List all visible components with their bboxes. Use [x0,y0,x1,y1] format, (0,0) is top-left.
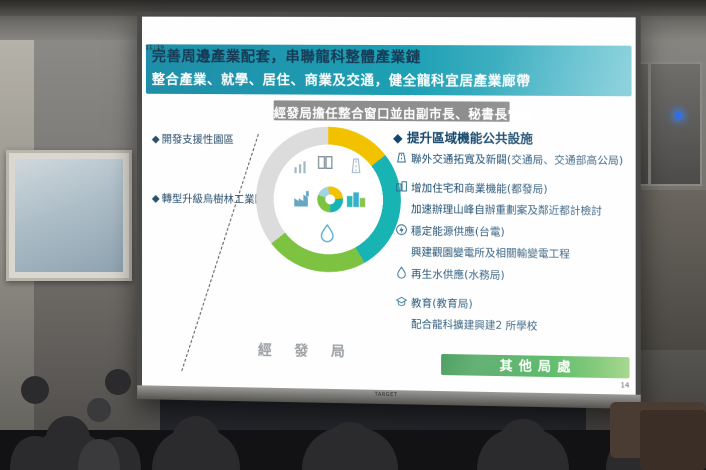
right-item-3-title: 穩定能源供應(台電) [411,223,505,239]
diamond-bullet-icon: ◆ [393,130,403,145]
slide-title-line2: 整合產業、就學、居住、商業及交通，健全龍科宜居產業廊帶 [152,68,626,90]
book-icon [315,152,335,172]
slide-subtitle-text: 經發局擔任整合窗口並由副市長、秘書長督導 [274,102,510,122]
power-icon [395,223,408,236]
left-bullet-1-label: 開發支援性園區 [162,133,234,145]
slide-title-line1: 完善周邊產業配套，串聯龍科整體產業鏈 [152,45,622,68]
right-column-heading: ◆ 提升區域機能公共設施 [393,127,533,147]
photo-scene: 11:19 完善周邊產業配套，串聯龍科整體產業鏈 整合產業、就學、居住、商業及交… [0,0,706,470]
window-mullion [648,64,651,184]
road-traffic-icon [395,151,408,164]
timestamp-overlay: 11:19 [145,43,164,51]
right-item-1-title: 聯外交通拓寬及新闢(交通局、交通部高公局) [411,151,623,168]
right-column-heading-label: 提升區域機能公共設施 [407,130,533,146]
school-icon [395,295,408,308]
wall-picture-image [15,159,123,272]
factory-icon [292,188,314,210]
chart-icon [292,158,310,176]
left-bullet-1: ◆開發支援性園區 [152,131,234,146]
right-item-2-sub-1: 加速辦理山峰自辦重劃案及鄰近都計檢討 [411,201,602,218]
pie-chart-icon [317,186,343,212]
water-drop-icon [317,222,337,244]
right-item-2-title: 增加住宅和商業機能(都發局) [411,180,548,196]
left-bullet-2: ◆轉型升級烏樹林工業區 [152,191,265,207]
road-traffic-icon [347,157,365,175]
city-icon [345,189,367,211]
audience-silhouettes [0,310,706,470]
right-item-3-sub-1: 興建觀園變電所及相關輸變電工程 [411,244,570,261]
left-bullet-2-label: 轉型升級烏樹林工業區 [162,193,265,206]
wall-picture-frame [6,150,132,281]
diamond-bullet-icon: ◆ [152,193,160,205]
diamond-bullet-icon: ◆ [152,133,160,145]
status-led-indicator [675,112,682,119]
building-icon [395,180,408,193]
water-drop-icon [395,266,408,279]
right-item-5-title: 教育(教育局) [411,295,473,311]
right-item-4-title: 再生水供應(水務局) [411,266,505,282]
donut-chart-graphic [256,126,401,273]
